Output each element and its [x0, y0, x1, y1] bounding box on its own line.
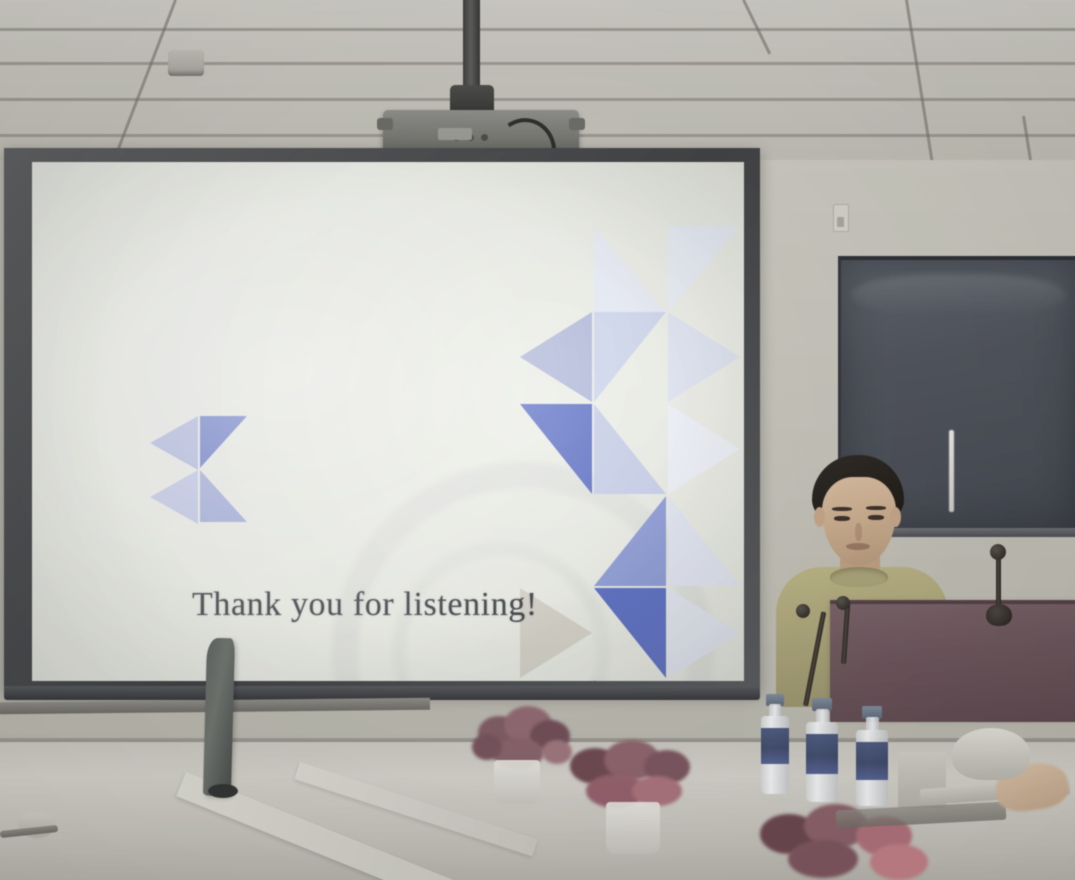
- microphone-head-1: [796, 604, 810, 618]
- blade-object-foot: [208, 784, 238, 798]
- projection-screen: Thank you for listening!: [32, 162, 744, 681]
- microphone-head-3: [990, 544, 1006, 560]
- blackboard-gloss: [851, 274, 1066, 316]
- projector-mount-pole: [463, 0, 480, 95]
- microphone-head-2: [836, 596, 850, 610]
- standing-blade-object: [203, 638, 235, 797]
- zigzag-decoration: [502, 172, 744, 672]
- vase-center: [606, 802, 660, 854]
- chevron-left-decoration: [150, 410, 246, 520]
- microphone-base-3: [986, 604, 1012, 626]
- presenter-face: [822, 477, 896, 565]
- slide-title-text: Thank you for listening!: [192, 586, 538, 624]
- light-switch[interactable]: [833, 204, 849, 232]
- presenter-mouth: [846, 543, 870, 550]
- ceiling-vent: [168, 50, 204, 76]
- podium: [830, 604, 1075, 722]
- vase-left: [494, 760, 540, 804]
- presenter-collar: [830, 567, 888, 587]
- lecture-hall-photo: Thank you for listening!: [0, 0, 1075, 880]
- round-object: [952, 728, 1030, 780]
